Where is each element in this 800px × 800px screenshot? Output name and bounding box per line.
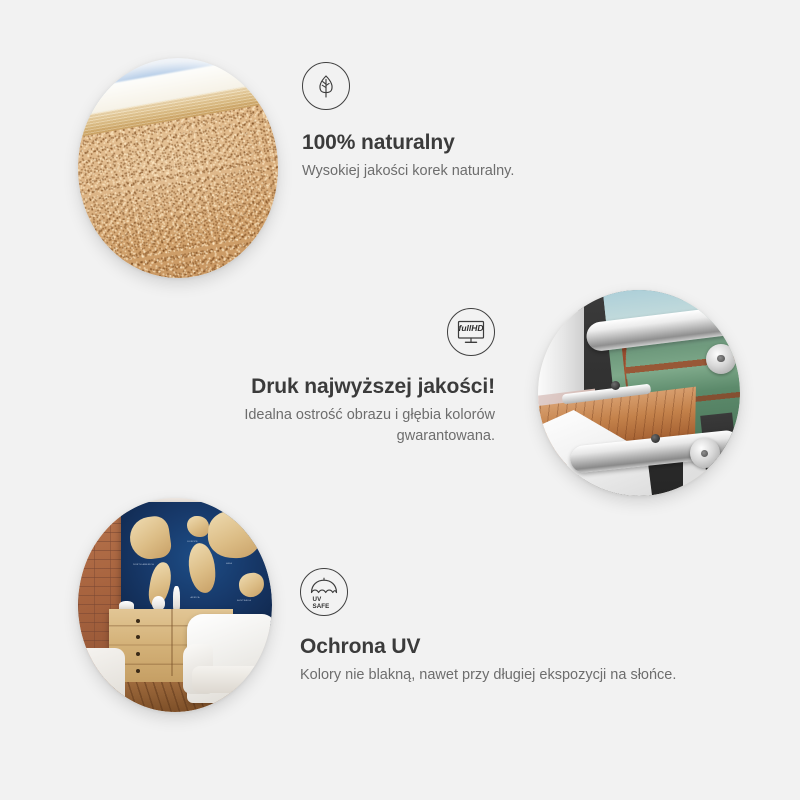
cork-photo-inner — [78, 58, 278, 278]
feature-block-uv: UV SAFE Ochrona UV Kolory nie blakną, na… — [300, 568, 720, 686]
feature-description: Kolory nie blakną, nawet przy długiej ek… — [300, 665, 720, 686]
press-photo-inner — [538, 290, 740, 496]
feature-title: 100% naturalny — [302, 130, 632, 155]
printing-press-photo — [538, 290, 740, 496]
feature-description: Wysokiej jakości korek naturalny. — [302, 161, 632, 182]
icon-row: fullHD — [145, 308, 495, 356]
feature-showcase: NORTH AMERICA SOUTH AMERICA EUROPE AFRIC… — [0, 0, 800, 800]
uv-safe-label: UV SAFE — [313, 596, 336, 610]
leaf-icon — [302, 62, 350, 110]
room-world-map-photo: NORTH AMERICA SOUTH AMERICA EUROPE AFRIC… — [78, 498, 272, 712]
continent-australia — [237, 572, 264, 598]
feature-block-natural: 100% naturalny Wysokiej jakości korek na… — [302, 62, 632, 182]
continent-europe — [187, 516, 209, 537]
feature-title: Druk najwyższej jakości! — [145, 374, 495, 399]
cork-board-photo — [78, 58, 278, 278]
room-decor-figurine — [173, 586, 180, 612]
press-roller-knob — [706, 344, 736, 374]
map-label: AFRICA — [191, 597, 200, 599]
room-side-armchair — [78, 648, 125, 712]
fullhd-label: fullHD — [458, 323, 483, 333]
drawer-knob — [136, 652, 140, 656]
room-photo-inner: NORTH AMERICA SOUTH AMERICA EUROPE AFRIC… — [78, 498, 272, 712]
map-label: EUROPE — [187, 541, 197, 543]
continent-north-america — [127, 515, 173, 562]
armchair-seat — [192, 666, 272, 693]
feature-description: Idealna ostrość obrazu i głębia kolorów … — [145, 405, 495, 446]
room-white-armchair — [187, 614, 272, 704]
map-label: NORTH AMERICA — [133, 564, 154, 566]
map-label: ASIA — [226, 563, 232, 565]
world-map-canvas: NORTH AMERICA SOUTH AMERICA EUROPE AFRIC… — [121, 502, 272, 626]
fullhd-monitor-icon: fullHD — [447, 308, 495, 356]
drawer-knob — [136, 635, 140, 639]
drawer-knob — [136, 669, 140, 673]
feature-title: Ochrona UV — [300, 634, 720, 659]
press-fastener-dot — [611, 381, 620, 390]
drawer-knob — [136, 619, 140, 623]
uv-safe-umbrella-icon: UV SAFE — [300, 568, 348, 616]
continent-asia — [206, 509, 262, 560]
press-roller-knob — [690, 438, 720, 468]
feature-block-print: fullHD Druk najwyższej jakości! Idealna … — [145, 308, 495, 446]
map-label: AUSTRALIA — [237, 600, 251, 602]
